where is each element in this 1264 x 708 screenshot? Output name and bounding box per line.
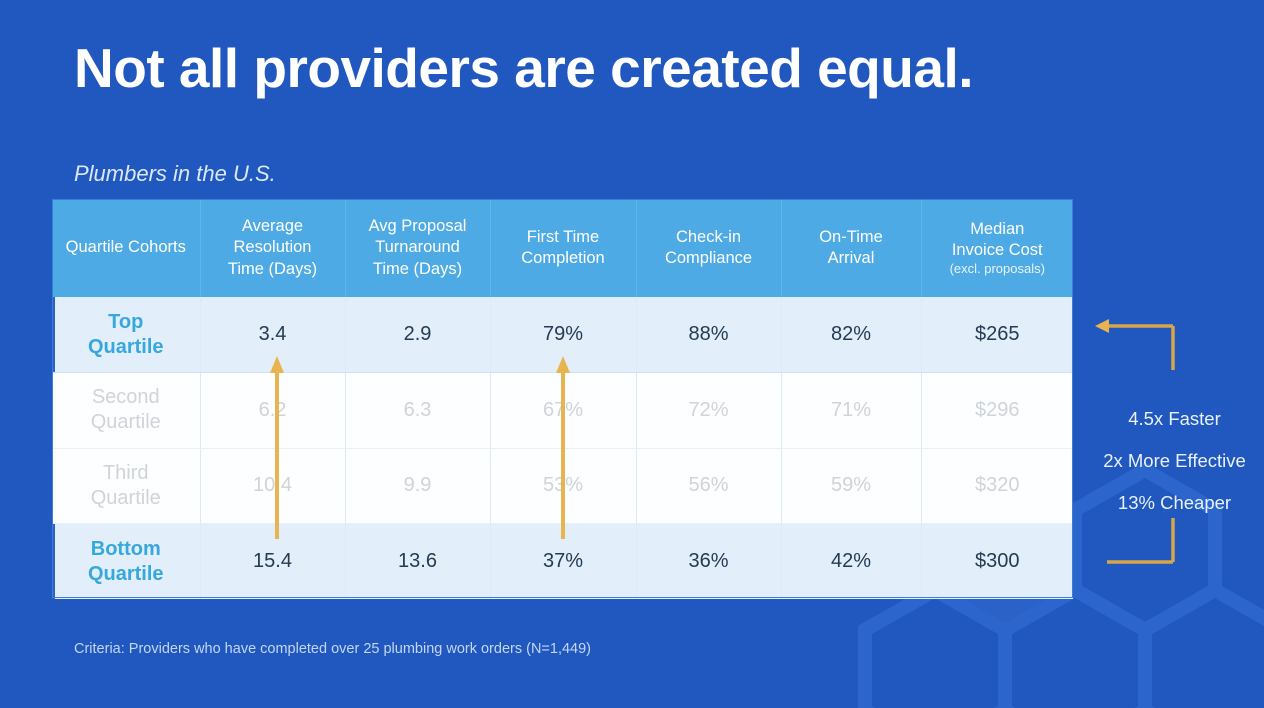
callout-line-effective: 2x More Effective — [1085, 440, 1264, 482]
cell-checkin-compliance: 56% — [636, 448, 781, 524]
cell-avg-proposal-turnaround: 6.3 — [345, 373, 490, 449]
cohort-line-2: Quartile — [52, 410, 200, 435]
quartile-comparison-table: Quartile Cohorts Average Resolution Time… — [52, 199, 1073, 598]
callout-line-faster: 4.5x Faster — [1085, 398, 1264, 440]
cell-median-invoice-cost: $300 — [921, 524, 1073, 600]
cell-cohort-second-quartile: Second Quartile — [52, 373, 200, 449]
cell-first-time-completion: 79% — [490, 297, 636, 373]
cell-avg-resolution-time: 6.2 — [200, 373, 345, 449]
cohort-line-2: Quartile — [52, 486, 200, 511]
callout-text-block: 4.5x Faster 2x More Effective 13% Cheape… — [1085, 398, 1264, 525]
cell-median-invoice-cost: $265 — [921, 297, 1073, 373]
cohort-line-2: Quartile — [52, 335, 200, 360]
cohort-line-1: Bottom — [52, 537, 200, 562]
cohort-line-1: Top — [52, 310, 200, 335]
header-line-1: Avg Proposal — [369, 217, 467, 235]
page-title: Not all providers are created equal. — [74, 40, 973, 98]
cell-on-time-arrival: 71% — [781, 373, 921, 449]
cell-cohort-top-quartile: Top Quartile — [52, 297, 200, 373]
cell-checkin-compliance: 36% — [636, 524, 781, 600]
header-line-2: Cohorts — [128, 238, 186, 256]
table-row: Bottom Quartile 15.4 13.6 37% 36% 42% $3… — [52, 524, 1073, 600]
cell-median-invoice-cost: $296 — [921, 373, 1073, 449]
performance-callout: 4.5x Faster 2x More Effective 13% Cheape… — [1085, 300, 1264, 590]
header-line-3: Time (Days) — [228, 260, 317, 278]
bracket-corner-icon — [1107, 518, 1173, 562]
cell-avg-proposal-turnaround: 9.9 — [345, 448, 490, 524]
cell-avg-proposal-turnaround: 2.9 — [345, 297, 490, 373]
header-subnote: (excl. proposals) — [928, 261, 1068, 278]
cohort-line-1: Third — [52, 461, 200, 486]
table-row: Top Quartile 3.4 2.9 79% 88% 82% $265 — [52, 297, 1073, 373]
header-line-2: Completion — [521, 249, 604, 267]
table-header: Quartile Cohorts Average Resolution Time… — [52, 199, 1073, 297]
criteria-footnote: Criteria: Providers who have completed o… — [74, 641, 591, 657]
header-line-2: Resolution — [234, 238, 312, 256]
header-line-2: Compliance — [665, 249, 752, 267]
column-header-checkin-compliance: Check-in Compliance — [636, 199, 781, 297]
header-line-1: On-Time — [819, 228, 883, 246]
header-line-3: Time (Days) — [373, 260, 462, 278]
header-line-2: Turnaround — [375, 238, 460, 256]
column-header-avg-proposal-turnaround: Avg Proposal Turnaround Time (Days) — [345, 199, 490, 297]
table-row: Third Quartile 10.4 9.9 53% 56% 59% $320 — [52, 448, 1073, 524]
column-header-on-time-arrival: On-Time Arrival — [781, 199, 921, 297]
table-header-row: Quartile Cohorts Average Resolution Time… — [52, 199, 1073, 297]
column-header-first-time-completion: First Time Completion — [490, 199, 636, 297]
matrix-table: Quartile Cohorts Average Resolution Time… — [52, 199, 1073, 599]
header-line-2: Arrival — [828, 249, 875, 267]
cell-avg-resolution-time: 15.4 — [200, 524, 345, 600]
cell-avg-resolution-time: 3.4 — [200, 297, 345, 373]
header-line-2: Invoice Cost — [952, 241, 1043, 259]
arrow-left-bracket-icon — [1095, 319, 1173, 370]
cohort-line-2: Quartile — [52, 562, 200, 587]
column-header-avg-resolution-time: Average Resolution Time (Days) — [200, 199, 345, 297]
table-row: Second Quartile 6.2 6.3 67% 72% 71% $296 — [52, 373, 1073, 449]
cell-cohort-bottom-quartile: Bottom Quartile — [52, 524, 200, 600]
cell-avg-proposal-turnaround: 13.6 — [345, 524, 490, 600]
cell-first-time-completion: 53% — [490, 448, 636, 524]
cell-on-time-arrival: 42% — [781, 524, 921, 600]
header-line-1: Check-in — [676, 228, 741, 246]
cell-checkin-compliance: 88% — [636, 297, 781, 373]
header-line-1: First Time — [527, 228, 599, 246]
cell-cohort-third-quartile: Third Quartile — [52, 448, 200, 524]
header-line-1: Average — [242, 217, 303, 235]
column-header-quartile-cohorts: Quartile Cohorts — [52, 199, 200, 297]
cell-median-invoice-cost: $320 — [921, 448, 1073, 524]
header-line-1: Median — [970, 220, 1024, 238]
table-body: Top Quartile 3.4 2.9 79% 88% 82% $265 Se… — [52, 297, 1073, 599]
cell-on-time-arrival: 82% — [781, 297, 921, 373]
cell-first-time-completion: 37% — [490, 524, 636, 600]
cell-on-time-arrival: 59% — [781, 448, 921, 524]
slide-root: Not all providers are created equal. Plu… — [0, 0, 1264, 708]
column-header-median-invoice-cost: Median Invoice Cost (excl. proposals) — [921, 199, 1073, 297]
cell-avg-resolution-time: 10.4 — [200, 448, 345, 524]
cell-first-time-completion: 67% — [490, 373, 636, 449]
callout-line-cheaper: 13% Cheaper — [1085, 482, 1264, 524]
slide-subtitle: Plumbers in the U.S. — [74, 161, 276, 187]
cohort-line-1: Second — [52, 385, 200, 410]
cell-checkin-compliance: 72% — [636, 373, 781, 449]
header-line-1: Quartile — [66, 238, 124, 256]
